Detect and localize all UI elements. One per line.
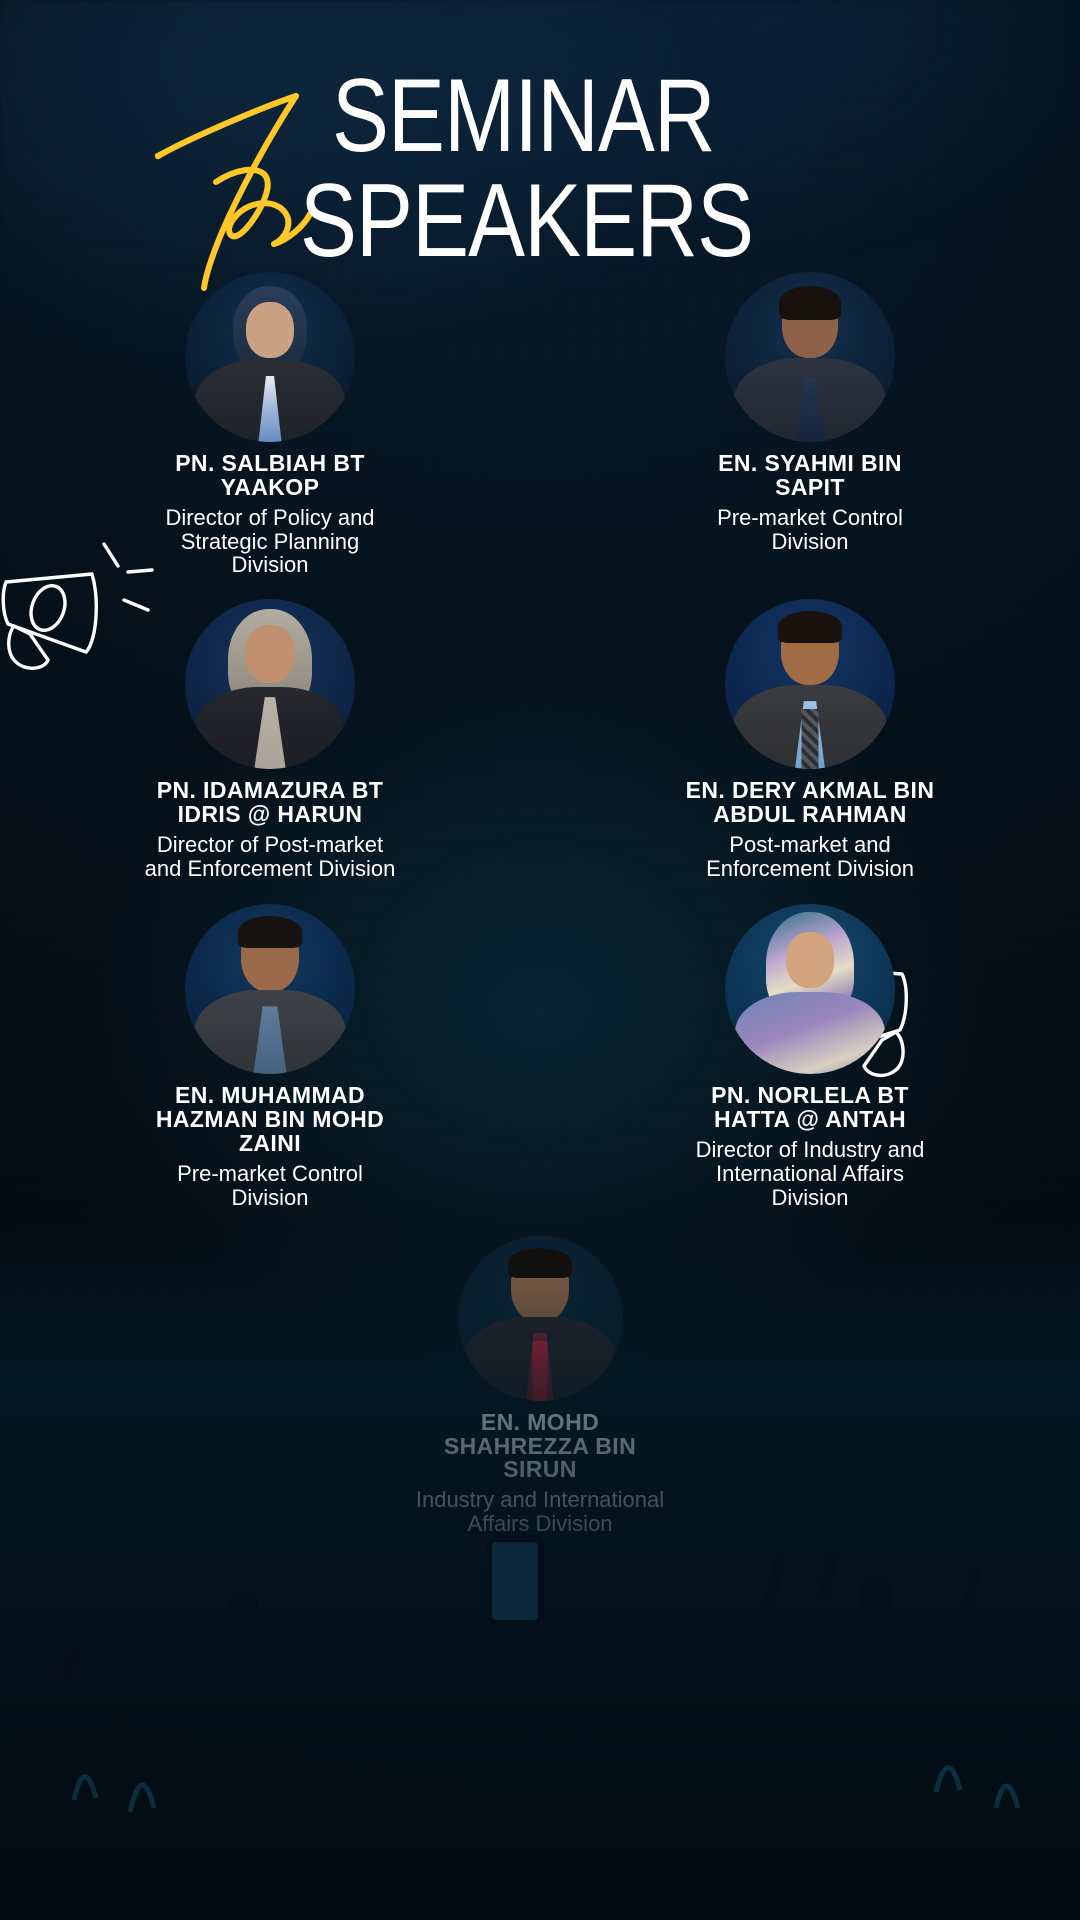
- speaker-role: Pre-market Control Division: [140, 1162, 400, 1210]
- seminar-speakers-poster: SEMINAR SPEAKERS: [0, 0, 1080, 1920]
- speaker-portrait-syahmi: [725, 272, 895, 442]
- speaker-portrait-norlela: [725, 904, 895, 1074]
- speaker-name: PN. SALBIAH BT YAAKOP: [145, 452, 395, 500]
- speaker-name: EN. DERY AKMAL BIN ABDUL RAHMAN: [685, 779, 935, 827]
- speaker-portrait-dery: [725, 599, 895, 769]
- speaker-row-1: PN. SALBIAH BT YAAKOP Director of Policy…: [0, 272, 1080, 577]
- speaker-card-dery[interactable]: EN. DERY AKMAL BIN ABDUL RAHMAN Post-mar…: [540, 599, 1080, 880]
- speaker-role: Director of Policy and Strategic Plannin…: [140, 506, 400, 577]
- poster-header: SEMINAR SPEAKERS: [0, 56, 1080, 286]
- speaker-card-salbiah[interactable]: PN. SALBIAH BT YAAKOP Director of Policy…: [0, 272, 540, 577]
- speaker-role: Director of Industry and International A…: [680, 1138, 940, 1209]
- speaker-row-2: PN. IDAMAZURA BT IDRIS @ HARUN Director …: [0, 599, 1080, 880]
- speaker-card-hazman[interactable]: EN. MUHAMMAD HAZMAN BIN MOHD ZAINI Pre-m…: [0, 904, 540, 1209]
- speaker-portrait-hazman: [185, 904, 355, 1074]
- speaker-name: EN. MUHAMMAD HAZMAN BIN MOHD ZAINI: [145, 1084, 395, 1156]
- speaker-name: EN. SYAHMI BIN SAPIT: [685, 452, 935, 500]
- speaker-name: PN. NORLELA BT HATTA @ ANTAH: [685, 1084, 935, 1132]
- speaker-card-norlela[interactable]: PN. NORLELA BT HATTA @ ANTAH Director of…: [540, 904, 1080, 1209]
- speaker-row-3: EN. MUHAMMAD HAZMAN BIN MOHD ZAINI Pre-m…: [0, 904, 1080, 1209]
- speaker-role: Pre-market Control Division: [680, 506, 940, 554]
- crowd-silhouette: [0, 1280, 1080, 1920]
- speaker-card-syahmi[interactable]: EN. SYAHMI BIN SAPIT Pre-market Control …: [540, 272, 1080, 577]
- speaker-portrait-idamazura: [185, 599, 355, 769]
- speaker-portrait-salbiah: [185, 272, 355, 442]
- title-line-seminar: SEMINAR: [332, 66, 715, 168]
- speaker-role: Post-market and Enforcement Division: [680, 833, 940, 881]
- speaker-name: PN. IDAMAZURA BT IDRIS @ HARUN: [145, 779, 395, 827]
- speaker-card-idamazura[interactable]: PN. IDAMAZURA BT IDRIS @ HARUN Director …: [0, 599, 540, 880]
- title-line-speakers: SPEAKERS: [300, 171, 753, 273]
- speaker-role: Director of Post-market and Enforcement …: [140, 833, 400, 881]
